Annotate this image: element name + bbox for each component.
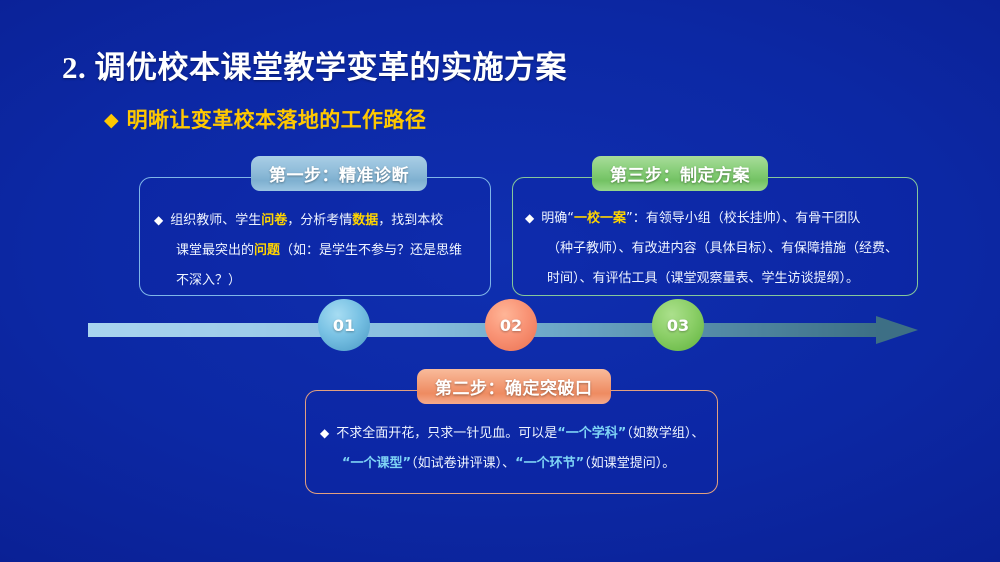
- highlight-text-cyan: “一个环节”: [515, 456, 584, 471]
- step-1-badge[interactable]: 第一步：精准诊断: [251, 156, 427, 191]
- step-text-line: ◆不求全面开花，只求一针见血。可以是“一个学科”（如数学组）、: [320, 418, 699, 449]
- step-text-line: 课堂最突出的问题（如：是学生不参与？还是思维: [154, 236, 472, 266]
- body-text: （种子教师）、有改进内容（具体目标）、有保障措施（经费、: [547, 241, 898, 256]
- body-text: 时间）、有评估工具（课堂观察量表、学生访谈提纲）。: [547, 271, 859, 286]
- step-text-line: ◆明确“一校一案”：有领导小组（校长挂帅）、有骨干团队: [525, 203, 905, 234]
- step-text-line: 时间）、有评估工具（课堂观察量表、学生访谈提纲）。: [525, 264, 905, 294]
- step-3-badge[interactable]: 第三步：制定方案: [592, 156, 768, 191]
- body-text: 明确“: [541, 211, 574, 226]
- diamond-bullet-icon: ◆: [525, 211, 534, 225]
- step-2-badge[interactable]: 第二步：确定突破口: [417, 369, 611, 404]
- step-text-line: 不深入？）: [154, 266, 472, 296]
- highlight-text-yellow: 问卷: [261, 213, 287, 228]
- body-text: （如试卷讲评课）、: [411, 456, 515, 471]
- step-1-card: ◆组织教师、学生问卷，分析考情数据，找到本校课堂最突出的问题（如：是学生不参与？…: [139, 177, 491, 296]
- body-text: 课堂最突出的: [176, 243, 254, 258]
- step-text-line: （种子教师）、有改进内容（具体目标）、有保障措施（经费、: [525, 234, 905, 264]
- highlight-text-yellow: 问题: [254, 243, 280, 258]
- step-2-card: ◆不求全面开花，只求一针见血。可以是“一个学科”（如数学组）、“一个课型”（如试…: [305, 390, 718, 494]
- body-text: ，找到本校: [378, 213, 443, 228]
- body-text: ，分析考情: [287, 213, 352, 228]
- highlight-text-yellow: 数据: [352, 213, 378, 228]
- step-text-line: “一个课型”（如试卷讲评课）、“一个环节”（如课堂提问）。: [320, 449, 699, 479]
- step-text-line: ◆组织教师、学生问卷，分析考情数据，找到本校: [154, 205, 472, 236]
- body-text: （如：是学生不参与？还是思维: [280, 243, 462, 258]
- page-title: 2. 调优校本课堂教学变革的实施方案: [62, 42, 567, 87]
- diamond-bullet-icon: ◆: [154, 213, 163, 227]
- timeline-bar: [88, 323, 878, 337]
- body-text: （如课堂提问）。: [584, 456, 675, 471]
- timeline: 01 02 03: [88, 318, 918, 342]
- slide-canvas: 2. 调优校本课堂教学变革的实施方案 ◆ 明晰让变革校本落地的工作路径 01 0…: [0, 0, 1000, 562]
- diamond-bullet-icon: ◆: [104, 111, 119, 130]
- timeline-arrowhead-icon: [876, 316, 918, 344]
- subtitle-row: ◆ 明晰让变革校本落地的工作路径: [104, 104, 426, 134]
- step-3-body: ◆明确“一校一案”：有领导小组（校长挂帅）、有骨干团队（种子教师）、有改进内容（…: [513, 178, 917, 308]
- highlight-text-cyan: “一个课型”: [342, 456, 411, 471]
- body-text: 不深入？）: [176, 273, 241, 288]
- diamond-bullet-icon: ◆: [320, 426, 329, 440]
- page-subtitle: 明晰让变革校本落地的工作路径: [127, 104, 427, 134]
- body-text: ”：有领导小组（校长挂帅）、有骨干团队: [626, 211, 860, 226]
- highlight-text-yellow: 一校一案: [574, 211, 626, 226]
- step-2-body: ◆不求全面开花，只求一针见血。可以是“一个学科”（如数学组）、“一个课型”（如试…: [306, 391, 717, 493]
- step-1-body: ◆组织教师、学生问卷，分析考情数据，找到本校课堂最突出的问题（如：是学生不参与？…: [140, 178, 490, 310]
- body-text: （如数学组）、: [626, 426, 704, 441]
- highlight-text-cyan: “一个学科”: [557, 426, 626, 441]
- body-text: 不求全面开花，只求一针见血。可以是: [336, 426, 557, 441]
- step-3-card: ◆明确“一校一案”：有领导小组（校长挂帅）、有骨干团队（种子教师）、有改进内容（…: [512, 177, 918, 296]
- body-text: 组织教师、学生: [170, 213, 261, 228]
